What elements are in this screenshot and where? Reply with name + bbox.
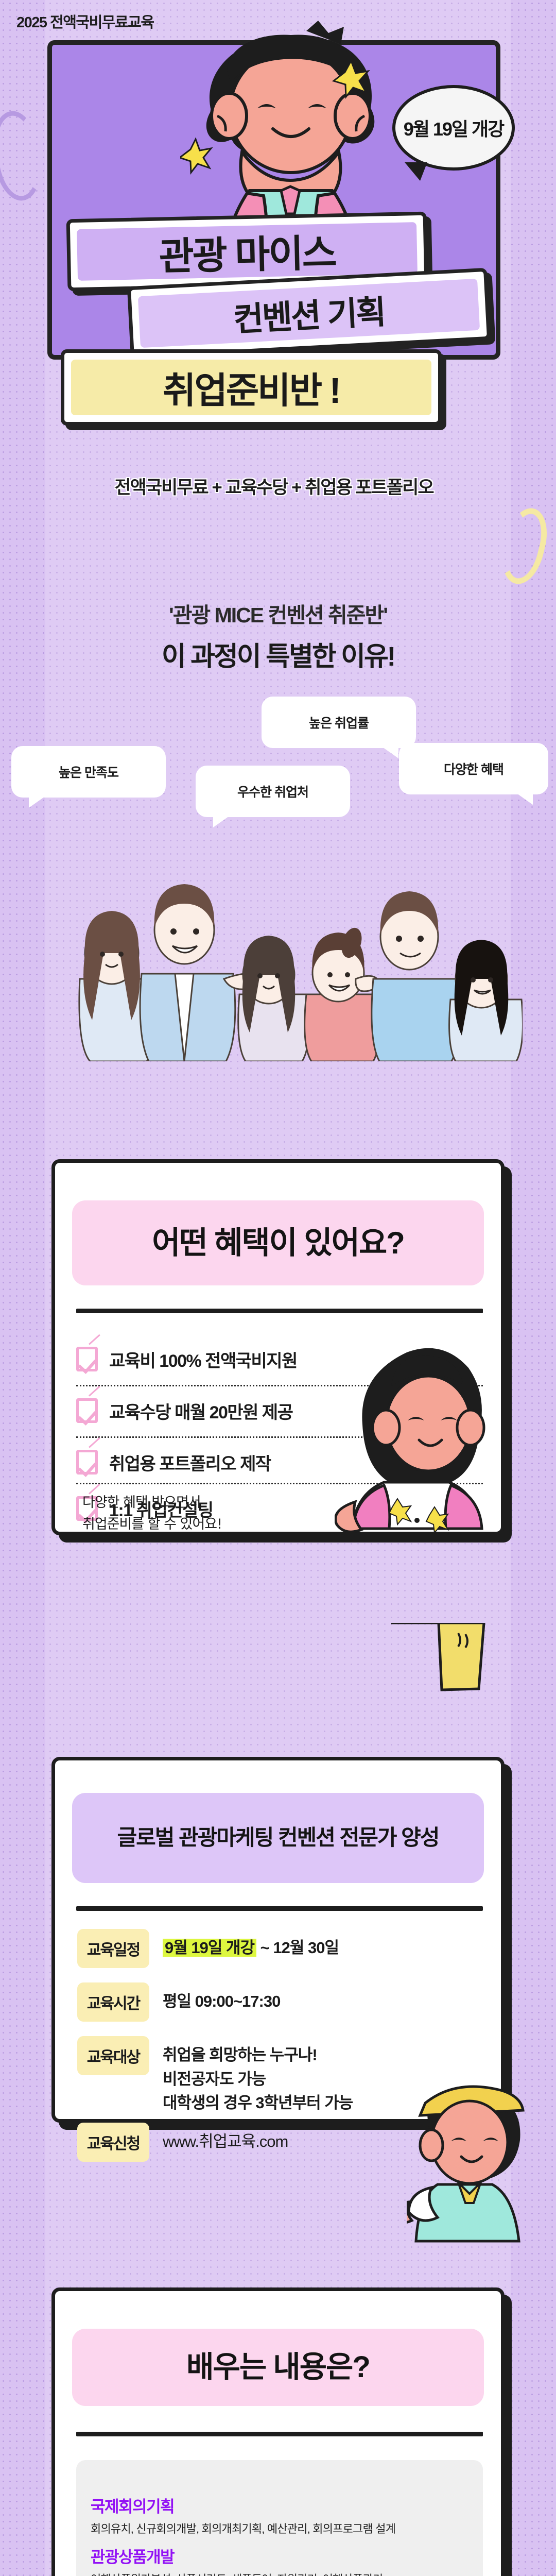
info-row-label: 교육대상 [77, 2036, 149, 2075]
info-row-target: 교육대상 취업을 희망하는 누구나! 비전공자도 가능 대학생의 경우 3학년부… [77, 2036, 353, 2115]
benefits-divider [76, 1309, 483, 1313]
benefit-label: 취업용 포트폴리오 제작 [109, 1450, 271, 1475]
check-icon [76, 1347, 98, 1371]
schedule-highlight: 9월 19일 개강 [163, 1939, 256, 1957]
curriculum-item-detail: 회의유치, 신규회의개발, 회의개최기획, 예산관리, 회의프로그램 설계 [91, 2520, 395, 2536]
curriculum-item-name: 국제회의기획 [91, 2494, 395, 2517]
tip-label: 높은 만족도 [59, 762, 118, 781]
apply-url[interactable]: www.취업교육.com [163, 2123, 288, 2154]
group-of-students-illustration [49, 824, 523, 1061]
why-title: 이 과정이 특별한 이유! [0, 635, 556, 673]
info-row-label: 교육신청 [77, 2123, 149, 2162]
hero-banner-3: 취업준비반 ! [61, 349, 442, 426]
hero-banner-1-text: 관광 마이스 [77, 222, 418, 281]
info-row-label: 교육일정 [77, 1929, 149, 1968]
curriculum-item: 국제회의기획 회의유치, 신규회의개발, 회의개최기획, 예산관리, 회의프로그… [91, 2494, 395, 2536]
tip-bubble-satisfaction: 높은 만족도 [11, 746, 166, 798]
opening-date-bubble: 9월 19일 개강 [392, 85, 515, 171]
course-info-divider [76, 1906, 483, 1911]
benefits-note-line2: 취업준비를 할 수 있어요! [82, 1514, 222, 1535]
benefits-title: 어떤 혜택이 있어요? [72, 1200, 484, 1285]
info-row-value: 9월 19일 개강 ~ 12월 30일 [163, 1929, 339, 1960]
check-icon [76, 1450, 98, 1475]
info-row-label: 교육시간 [77, 1982, 149, 2022]
curriculum-item: 관광상품개발 여행상품원가분석, 상품성검토, 샘플투어, 자원관리, 여행상품… [91, 2544, 383, 2576]
decorative-loop-purple [0, 108, 46, 204]
tip-bubble-benefits: 다양한 혜택 [399, 743, 548, 794]
info-row-value: 평일 09:00~17:30 [163, 1982, 280, 2014]
info-row-apply[interactable]: 교육신청 www.취업교육.com [77, 2123, 288, 2162]
check-icon [76, 1398, 98, 1423]
schedule-rest: ~ 12월 30일 [256, 1939, 339, 1957]
benefit-label: 교육수당 매월 20만원 제공 [109, 1398, 292, 1423]
hero-subline: 전액국비무료 + 교육수당 + 취업용 포트폴리오 [47, 473, 500, 499]
boy-pointing-illustration [407, 2076, 541, 2246]
target-line-1: 취업을 희망하는 누구나! [163, 2043, 353, 2067]
curriculum-divider [76, 2432, 483, 2436]
tip-label: 높은 취업률 [309, 713, 369, 732]
promo-top-label: 2025 전액국비무료교육 [16, 10, 154, 32]
info-row-schedule: 교육일정 9월 19일 개강 ~ 12월 30일 [77, 1929, 339, 1968]
decorative-loop-yellow [496, 504, 553, 588]
tip-label: 우수한 취업처 [237, 782, 308, 801]
woman-presenting-illustration [335, 1337, 505, 1553]
opening-date-text: 9월 19일 개강 [404, 114, 504, 141]
bubble-tail [405, 162, 427, 181]
why-quote: '관광 MICE 컨벤션 취준반' [0, 598, 556, 629]
tip-bubble-employment-rate: 높은 취업률 [262, 697, 416, 748]
target-line-3: 대학생의 경우 3학년부터 가능 [163, 2091, 353, 2115]
info-row-time: 교육시간 평일 09:00~17:30 [77, 1982, 280, 2022]
benefits-note-line1: 다양한 혜택 받으면서 [82, 1492, 222, 1514]
benefit-label: 교육비 100% 전액국비지원 [109, 1347, 297, 1372]
info-row-value: 취업을 희망하는 누구나! 비전공자도 가능 대학생의 경우 3학년부터 가능 [163, 2036, 353, 2115]
hero-banner-2-text: 컨벤션 기획 [138, 279, 480, 348]
tip-label: 다양한 혜택 [444, 759, 503, 778]
course-info-title: 글로벌 관광마케팅 컨벤션 전문가 양성 [72, 1793, 484, 1883]
benefits-handwritten-note: 다양한 혜택 받으면서 취업준비를 할 수 있어요! [82, 1492, 222, 1535]
curriculum-item-name: 관광상품개발 [91, 2544, 383, 2567]
curriculum-title: 배우는 내용은? [72, 2329, 484, 2406]
hero-banner-3-text: 취업준비반 ! [71, 360, 431, 415]
tip-bubble-employers: 우수한 취업처 [196, 766, 350, 817]
curriculum-item-detail: 여행상품원가분석, 상품성검토, 샘플투어, 자원관리, 여행상품관리 [91, 2570, 383, 2576]
target-line-2: 비전공자도 가능 [163, 2067, 353, 2092]
decorative-yellow-shape [381, 1623, 494, 1736]
